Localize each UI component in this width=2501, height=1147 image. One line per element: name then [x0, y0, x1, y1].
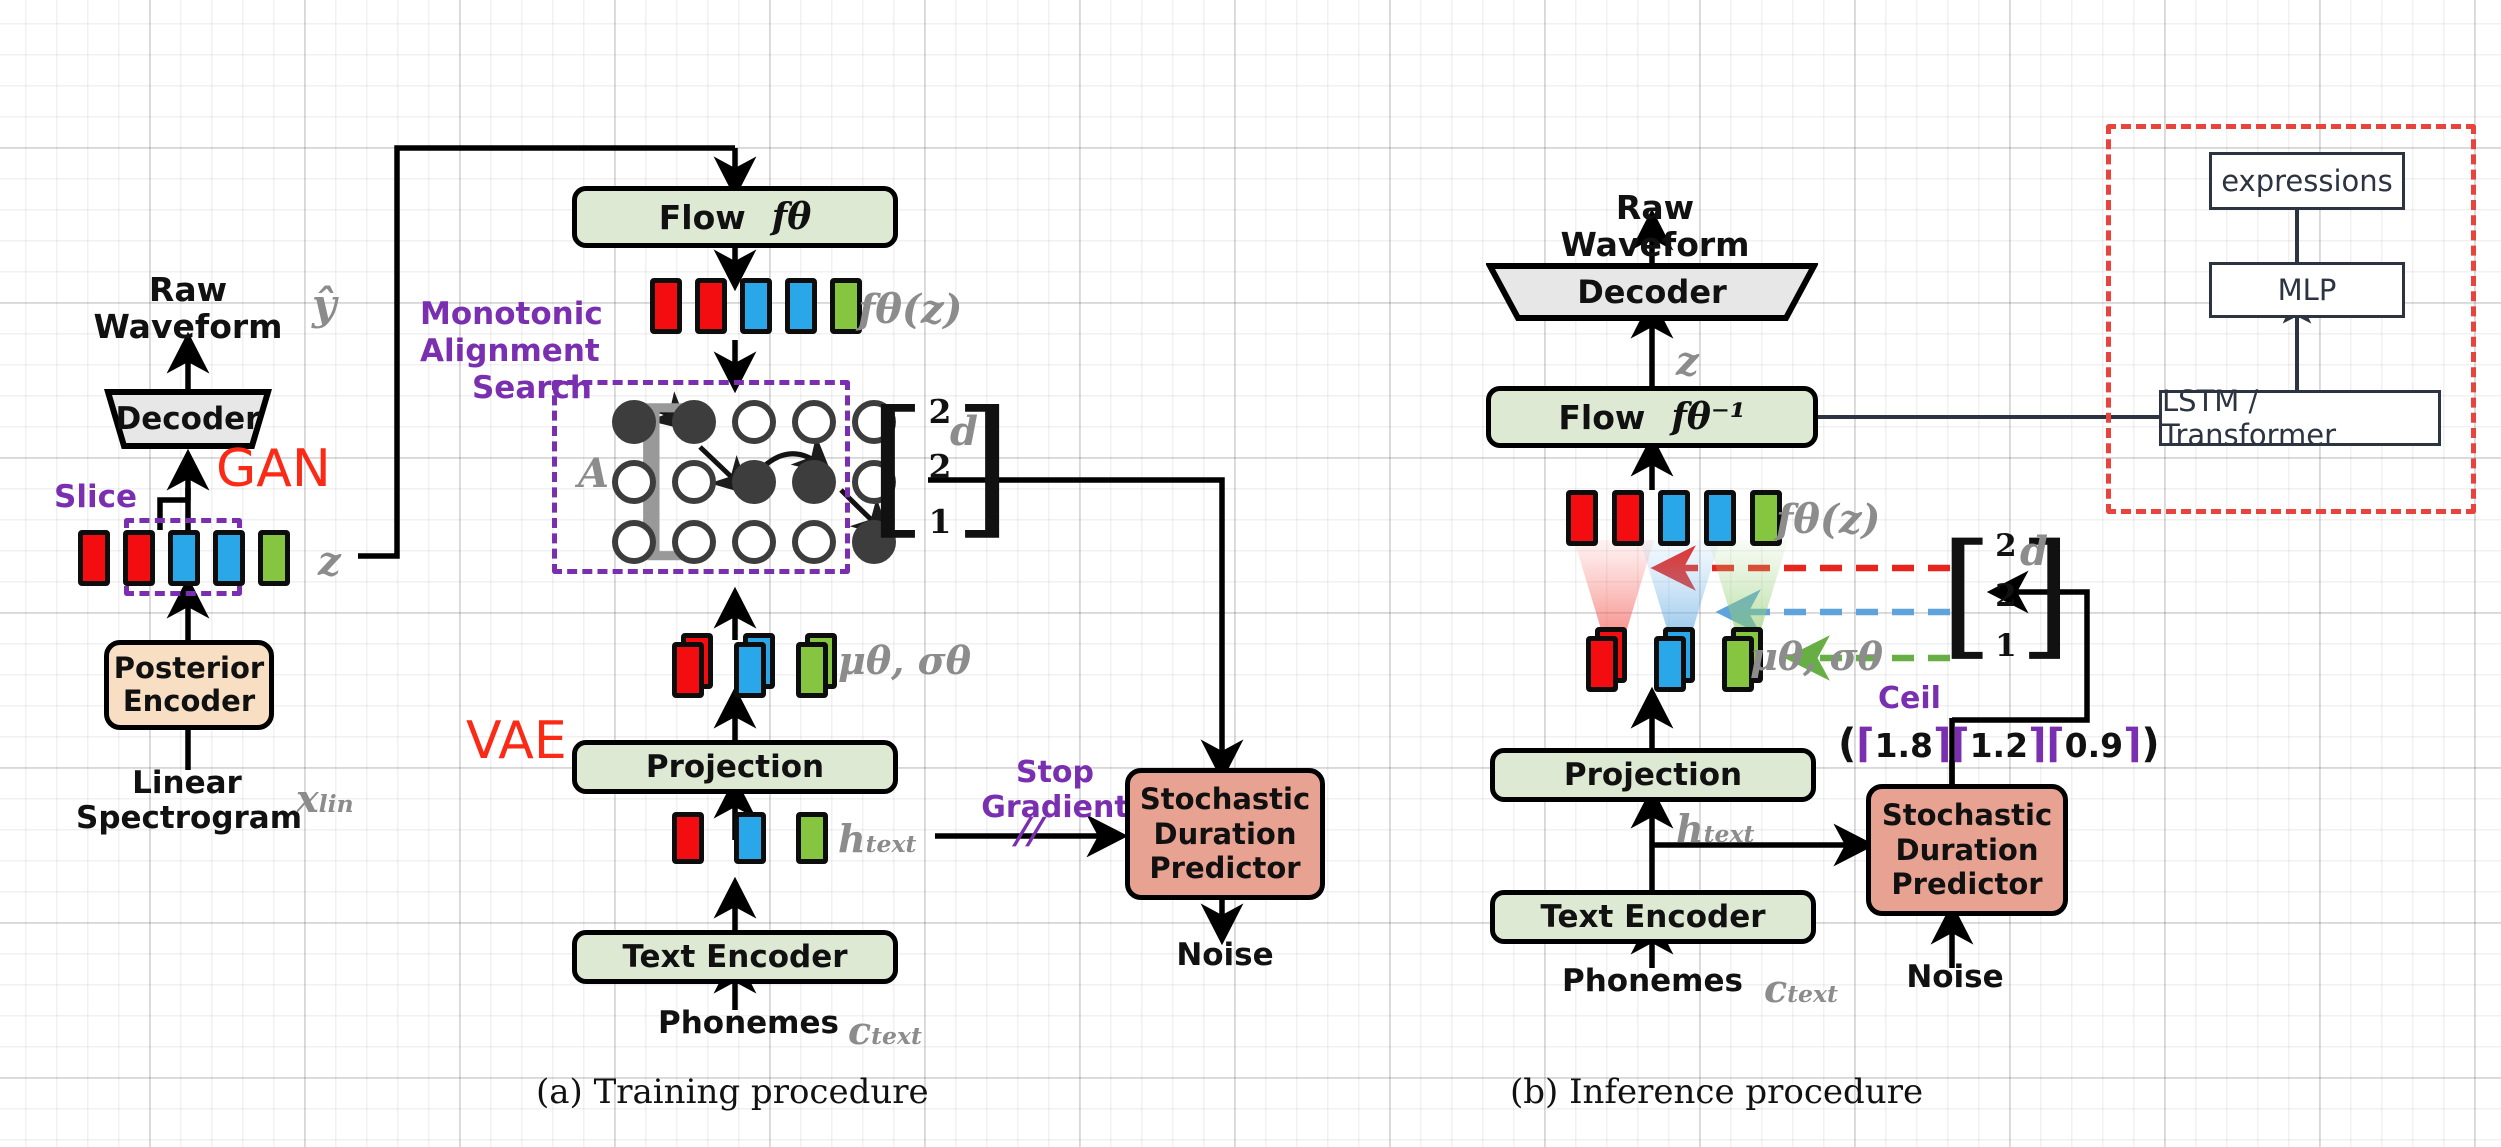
z-math-inference: z — [1676, 338, 1699, 385]
phonemes-label-inference: Phonemes — [1562, 964, 1742, 999]
mu-sigma-chips-inference — [1586, 636, 1754, 692]
chip-fz-1 — [1612, 490, 1644, 546]
vae-label: VAE — [466, 712, 567, 770]
chip-z-1 — [123, 530, 155, 586]
ceil-value: 1.2 — [1970, 726, 2028, 765]
caption-inference: (b) Inference procedure — [1510, 1072, 1923, 1112]
matrix-A-label: A — [578, 450, 609, 497]
flow-math-training: fθ — [772, 196, 812, 238]
duration-value: 2 — [1995, 528, 2017, 564]
chip-fz-2 — [1658, 490, 1690, 546]
matrix-cell — [732, 400, 776, 444]
text-encoder-block-training[interactable]: Text Encoder — [572, 930, 898, 984]
chip-front — [796, 642, 828, 698]
chip-fz-0 — [1566, 490, 1598, 546]
chip-z-0 — [78, 530, 110, 586]
ceil-label: Ceil — [1878, 682, 1941, 716]
projection-block-training[interactable]: Projection — [572, 740, 898, 794]
chip-z-3 — [213, 530, 245, 586]
chip-front — [734, 642, 766, 698]
chip-stack-mu-0 — [1586, 636, 1618, 692]
chip-htext-0 — [672, 812, 704, 864]
matrix-cell — [792, 460, 836, 504]
linear-spectrogram-label: Linear Spectrogram — [76, 766, 298, 835]
latent-fz-chips-training — [650, 278, 862, 334]
slice-label: Slice — [54, 480, 137, 515]
decoder-block-inference[interactable]: Decoder — [1486, 262, 1818, 322]
phonemes-label-training: Phonemes — [658, 1006, 834, 1041]
mu-sigma-math-training: μθ, σθ — [838, 638, 971, 683]
stochastic-duration-predictor-inference[interactable]: Stochastic Duration Predictor — [1866, 784, 2068, 916]
decoder-label-inference: Decoder — [1486, 262, 1818, 322]
f-theta-z-math-inference: fθ(z) — [1776, 496, 1880, 543]
chip-stack-mu-0 — [672, 642, 704, 698]
noise-label-training: Noise — [1162, 938, 1288, 973]
h-text-chips-training — [672, 812, 828, 864]
caption-training: (a) Training procedure — [536, 1072, 929, 1112]
chip-stack-mu-2 — [796, 642, 828, 698]
chip-z-2 — [168, 530, 200, 586]
flow-block-training[interactable]: Flow fθ — [572, 186, 898, 248]
gan-label: GAN — [216, 440, 331, 498]
chip-fz-1 — [695, 278, 727, 334]
raw-waveform-label-training: Raw Waveform — [88, 272, 288, 346]
mu-sigma-math-inference: μθ, σθ — [1750, 634, 1883, 679]
duration-vector-inference: [ 2 2 1 ] — [1940, 528, 2072, 664]
projection-block-inference[interactable]: Projection — [1490, 748, 1816, 802]
d-math-inference: d — [2020, 528, 2048, 575]
chip-z-4 — [258, 530, 290, 586]
y-hat-math: ŷ — [312, 280, 336, 329]
chip-fz-0 — [650, 278, 682, 334]
noise-label-inference: Noise — [1892, 960, 2018, 995]
posterior-encoder-block[interactable]: Posterior Encoder — [104, 640, 274, 730]
chip-front — [1586, 636, 1618, 692]
duration-value: 1 — [929, 502, 952, 541]
matrix-cell — [612, 400, 656, 444]
chip-htext-1 — [734, 812, 766, 864]
matrix-cell — [672, 460, 716, 504]
chip-front — [672, 642, 704, 698]
chip-stack-mu-1 — [734, 642, 766, 698]
duration-vector-training: [ 2 2 1 ] — [868, 392, 1012, 541]
duration-value: 1 — [1995, 628, 2017, 664]
flow-block-inference[interactable]: Flow fθ⁻¹ — [1486, 386, 1818, 448]
latent-z-chips — [78, 530, 290, 586]
chip-fz-3 — [1704, 490, 1736, 546]
duration-value: 2 — [1995, 578, 2017, 614]
c-text-math-training: ctext — [848, 1008, 922, 1053]
flow-label-training: Flow — [659, 198, 746, 237]
matrix-cell — [792, 400, 836, 444]
raw-waveform-label-inference: Raw Waveform — [1550, 190, 1760, 264]
chip-fz-3 — [785, 278, 817, 334]
chip-fz-2 — [740, 278, 772, 334]
matrix-cell — [612, 520, 656, 564]
duration-value: 2 — [929, 392, 952, 431]
chip-htext-2 — [796, 812, 828, 864]
flow-math-inference: fθ⁻¹ — [1671, 396, 1745, 438]
ceil-value: 1.8 — [1875, 726, 1933, 765]
d-math-training: d — [950, 408, 978, 455]
matrix-cell — [732, 460, 776, 504]
stochastic-duration-predictor-training[interactable]: Stochastic Duration Predictor — [1125, 768, 1325, 900]
h-text-math-training: htext — [838, 816, 916, 861]
matrix-cell — [612, 460, 656, 504]
stop-gradient-label: Stop Gradient — [970, 756, 1140, 825]
z-math-training: z — [318, 538, 341, 585]
latent-fz-chips-inference — [1566, 490, 1782, 546]
matrix-cell — [792, 520, 836, 564]
h-text-math-inference: htext — [1676, 806, 1754, 851]
ceil-paren-close: ) — [2141, 721, 2159, 767]
matrix-cell — [732, 520, 776, 564]
alignment-matrix — [612, 400, 896, 564]
flow-label-inference: Flow — [1558, 398, 1645, 437]
c-text-math-inference: ctext — [1764, 966, 1838, 1011]
lstm-transformer-box[interactable]: LSTM / Transformer — [2159, 390, 2441, 446]
f-theta-z-math-training: fθ(z) — [858, 286, 962, 333]
matrix-cell — [672, 400, 716, 444]
chip-stack-mu-1 — [1654, 636, 1686, 692]
mu-sigma-chips-training — [672, 642, 828, 698]
expressions-box[interactable]: expressions — [2209, 152, 2405, 210]
ceil-paren-open: ( — [1838, 721, 1856, 767]
ceil-value: 0.9 — [2065, 726, 2123, 765]
text-encoder-block-inference[interactable]: Text Encoder — [1490, 890, 1816, 944]
ceil-expression: (⌈1.8⌉⌈1.2⌉⌈0.9⌉) — [1838, 722, 2160, 767]
mlp-box[interactable]: MLP — [2209, 262, 2405, 318]
chip-front — [1654, 636, 1686, 692]
matrix-cell — [672, 520, 716, 564]
x-lin-math: xlin — [296, 776, 354, 821]
duration-value: 2 — [929, 447, 952, 486]
